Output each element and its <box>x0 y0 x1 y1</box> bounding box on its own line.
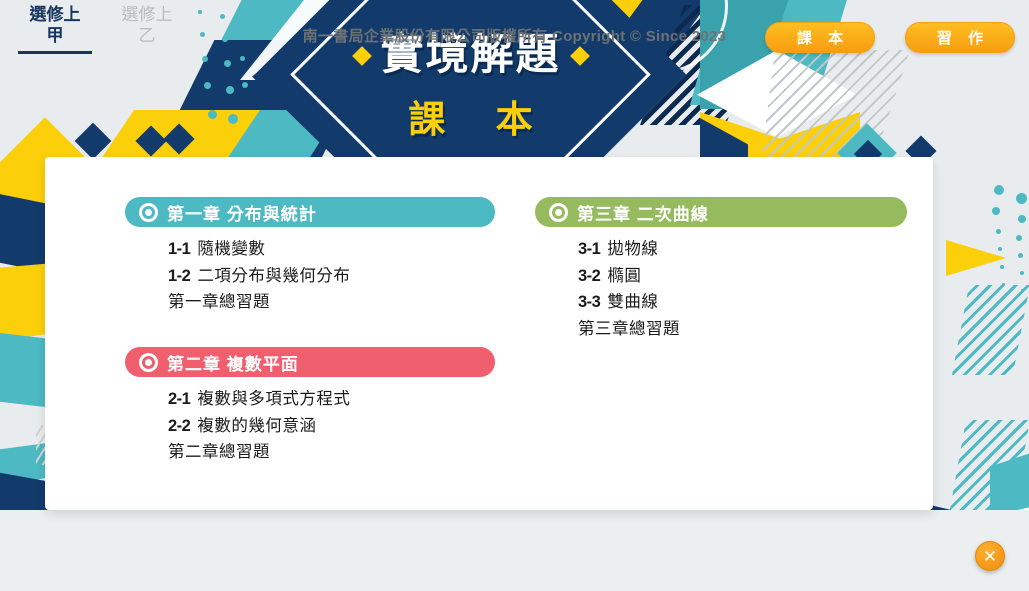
chapter-3-title: 第三章 二次曲線 <box>577 200 709 225</box>
section-name: 拋物線 <box>607 236 658 263</box>
tab-selection-b[interactable]: 選修上 乙 <box>110 4 184 54</box>
bg-stripes-teal-right-1 <box>952 285 1029 375</box>
list-item[interactable]: 1-1 隨機變數 <box>168 236 495 263</box>
section-number: 1-1 <box>168 236 190 263</box>
chapter-3-header[interactable]: 第三章 二次曲線 <box>535 197 907 227</box>
tab-selection-a[interactable]: 選修上 甲 <box>18 4 92 54</box>
edition-tabs: 選修上 甲 選修上 乙 <box>18 4 184 54</box>
section-number: 3-2 <box>578 263 600 290</box>
chapter-1-list: 1-1 隨機變數 1-2 二項分布與幾何分布 第一章總習題 <box>125 236 495 316</box>
tab-selection-a-line1: 選修上 <box>18 4 92 25</box>
target-icon <box>139 203 158 222</box>
target-icon <box>549 203 568 222</box>
chapter-2-list: 2-1 複數與多項式方程式 2-2 複數的幾何意涵 第二章總習題 <box>125 386 495 466</box>
section-name: 第三章總習題 <box>578 316 680 343</box>
textbook-button[interactable]: 課 本 <box>765 22 875 53</box>
section-name: 隨機變數 <box>197 236 265 263</box>
hero-wordmark: 實境解題 課 本 <box>318 34 623 154</box>
hero-bullet-left-icon <box>352 46 372 66</box>
tab-selection-a-line2: 甲 <box>18 25 92 46</box>
section-name: 複數與多項式方程式 <box>197 386 350 413</box>
list-item[interactable]: 3-1 拋物線 <box>578 236 907 263</box>
section-name: 雙曲線 <box>607 289 658 316</box>
section-number: 3-3 <box>578 289 600 316</box>
section-name: 橢圓 <box>607 263 641 290</box>
chapter-list-card: 第一章 分布與統計 1-1 隨機變數 1-2 二項分布與幾何分布 第一章總習題 <box>45 157 933 510</box>
chapter-2: 第二章 複數平面 2-1 複數與多項式方程式 2-2 複數的幾何意涵 第二章總習… <box>125 347 495 466</box>
list-item[interactable]: 1-2 二項分布與幾何分布 <box>168 263 495 290</box>
section-name: 二項分布與幾何分布 <box>197 263 350 290</box>
target-icon <box>139 353 158 372</box>
chapter-3-list: 3-1 拋物線 3-2 橢圓 3-3 雙曲線 第三章總習題 <box>535 236 907 343</box>
list-item[interactable]: 第二章總習題 <box>168 439 495 466</box>
hero-bullet-right-icon <box>570 46 590 66</box>
material-type-buttons: 課 本 習 作 <box>765 22 1015 53</box>
close-icon[interactable]: ✕ <box>975 541 1005 571</box>
chapter-3: 第三章 二次曲線 3-1 拋物線 3-2 橢圓 3-3 雙 <box>535 197 907 343</box>
section-number: 1-2 <box>168 263 190 290</box>
chapter-2-title: 第二章 複數平面 <box>167 350 299 375</box>
section-number: 2-1 <box>168 386 190 413</box>
app-stage: 實境解題 課 本 選修上 甲 選修上 乙 課 本 習 作 第一章 分布與 <box>0 0 1029 591</box>
list-item[interactable]: 3-3 雙曲線 <box>578 289 907 316</box>
footer-band <box>0 510 1029 591</box>
section-number: 2-2 <box>168 413 190 440</box>
list-item[interactable]: 3-2 橢圓 <box>578 263 907 290</box>
list-item[interactable]: 第一章總習題 <box>168 289 495 316</box>
tab-selection-b-line1: 選修上 <box>110 4 184 25</box>
hero-subtitle: 課 本 <box>388 89 552 143</box>
tab-selection-b-line2: 乙 <box>110 25 184 46</box>
list-item[interactable]: 2-2 複數的幾何意涵 <box>168 413 495 440</box>
chapter-1: 第一章 分布與統計 1-1 隨機變數 1-2 二項分布與幾何分布 第一章總習題 <box>125 197 495 316</box>
section-name: 第二章總習題 <box>168 439 270 466</box>
section-name: 第一章總習題 <box>168 289 270 316</box>
list-item[interactable]: 第三章總習題 <box>578 316 907 343</box>
chapter-2-header[interactable]: 第二章 複數平面 <box>125 347 495 377</box>
list-item[interactable]: 2-1 複數與多項式方程式 <box>168 386 495 413</box>
chapter-1-header[interactable]: 第一章 分布與統計 <box>125 197 495 227</box>
section-number: 3-1 <box>578 236 600 263</box>
section-name: 複數的幾何意涵 <box>197 413 316 440</box>
workbook-button[interactable]: 習 作 <box>905 22 1015 53</box>
chapter-1-title: 第一章 分布與統計 <box>167 200 317 225</box>
